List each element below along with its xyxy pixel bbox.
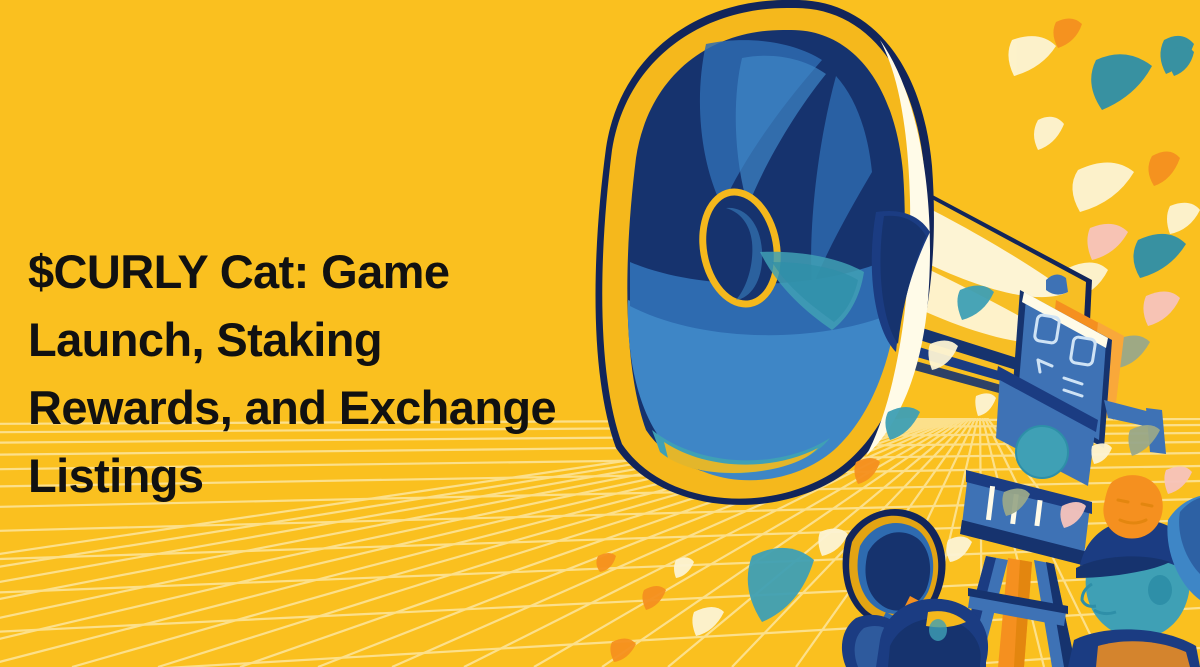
megaphone-cone [596, 0, 934, 505]
announcement-banner: $CURLY Cat: Game Launch, Staking Rewards… [0, 0, 1200, 667]
page-title: $CURLY Cat: Game Launch, Staking Rewards… [28, 238, 628, 510]
crowd-figure-orange [1103, 475, 1162, 538]
